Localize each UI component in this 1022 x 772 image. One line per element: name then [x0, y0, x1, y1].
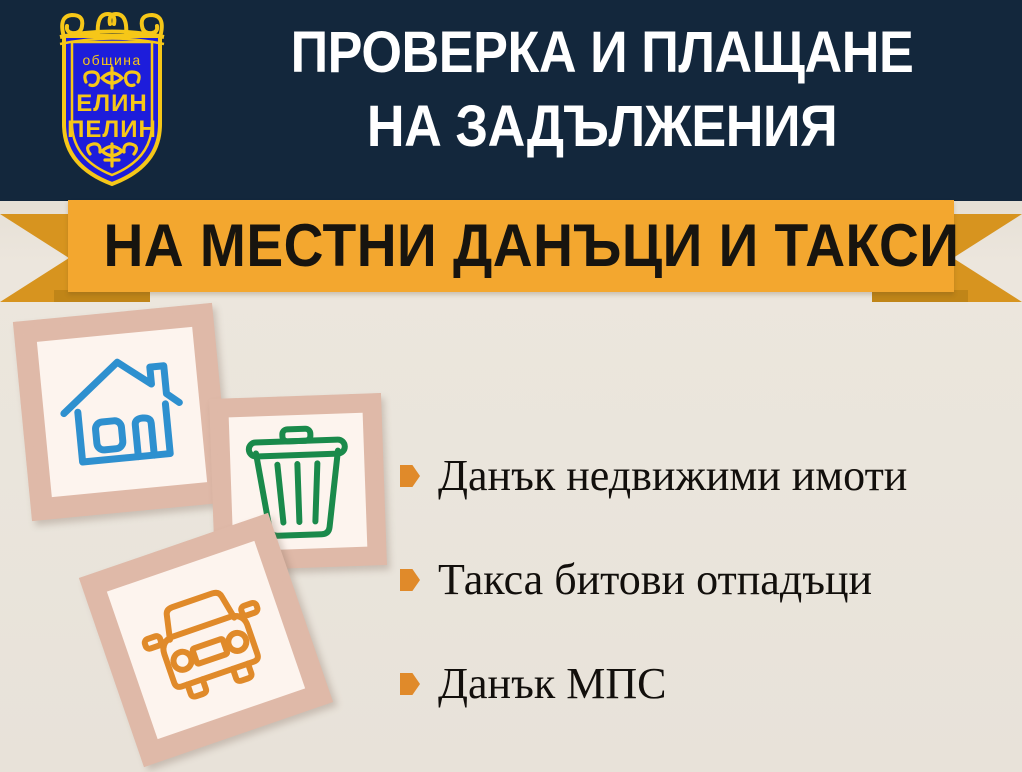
crest-line-main-2: ПЕЛИН	[67, 116, 157, 143]
bullet-arrow-icon	[400, 465, 420, 487]
poster-canvas: община ЕЛИН ПЕЛИН	[0, 0, 1022, 772]
page-title-line-2: НА ЗАДЪЛЖЕНИЯ	[237, 90, 968, 164]
bullet-arrow-icon	[400, 673, 420, 695]
header-banner: община ЕЛИН ПЕЛИН	[0, 0, 1022, 201]
page-title: ПРОВЕРКА И ПЛАЩАНЕ НА ЗАДЪЛЖЕНИЯ	[237, 16, 968, 164]
list-item-label: Данък МПС	[438, 660, 666, 708]
service-list: Данък недвижими имоти Такса битови отпад…	[400, 424, 1010, 736]
list-item-label: Данък недвижими имоти	[438, 452, 907, 500]
page-title-line-1: ПРОВЕРКА И ПЛАЩАНЕ	[237, 16, 968, 90]
crest-line-small: община	[82, 52, 141, 68]
stamp-real-estate-house	[13, 303, 231, 521]
subtitle-ribbon: НА МЕСТНИ ДАНЪЦИ И ТАКСИ	[0, 196, 1022, 308]
coat-of-arms: община ЕЛИН ПЕЛИН	[36, 6, 188, 192]
list-item[interactable]: Данък недвижими имоти	[400, 424, 1010, 528]
list-item[interactable]: Данък МПС	[400, 632, 1010, 736]
list-item-label: Такса битови отпадъци	[438, 556, 872, 604]
ribbon-label: НА МЕСТНИ ДАНЪЦИ И ТАКСИ	[103, 200, 918, 292]
bullet-arrow-icon	[400, 569, 420, 591]
ribbon-band: НА МЕСТНИ ДАНЪЦИ И ТАКСИ	[68, 200, 954, 292]
crest-line-main-1: ЕЛИН	[76, 90, 147, 117]
list-item[interactable]: Такса битови отпадъци	[400, 528, 1010, 632]
